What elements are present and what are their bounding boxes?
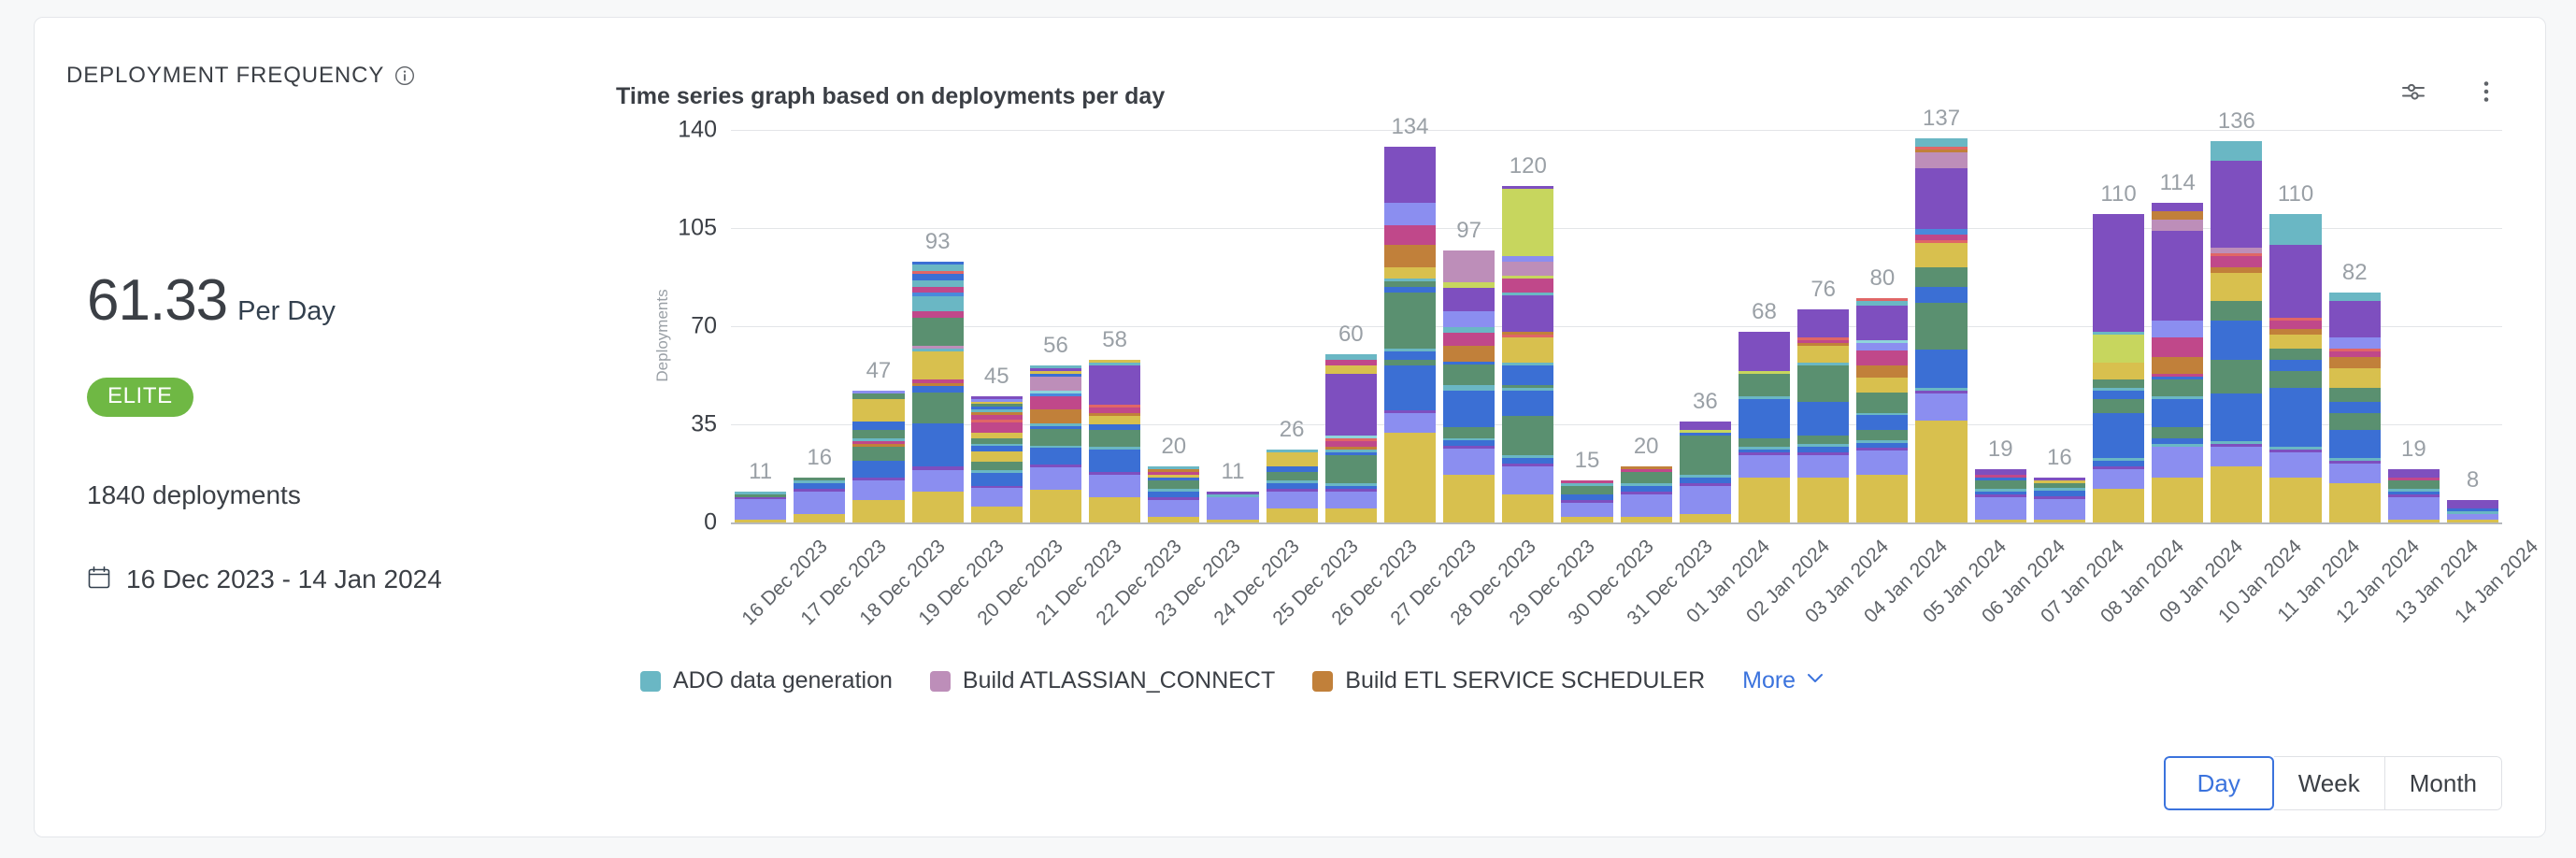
bar-value-label: 56 <box>1026 333 1085 359</box>
bar-segment[interactable] <box>1443 365 1495 386</box>
bar-segment[interactable] <box>971 488 1023 507</box>
bar-column[interactable]: 20 <box>1144 130 1203 522</box>
bar-segment[interactable] <box>1030 490 1081 522</box>
bar-segment[interactable] <box>1915 350 1967 388</box>
bar-segment[interactable] <box>2034 520 2085 522</box>
bar-segment[interactable] <box>1443 475 1495 522</box>
bar-segment[interactable] <box>912 274 964 280</box>
bar-segment[interactable] <box>1089 497 1140 522</box>
bar-value-label: 80 <box>1853 265 1911 292</box>
bar-segment[interactable] <box>1384 245 1436 267</box>
bar-segment[interactable] <box>2211 447 2262 466</box>
bar-segment[interactable] <box>1975 520 2026 522</box>
bar-column[interactable]: 47 <box>849 130 908 522</box>
date-range-row[interactable]: 16 Dec 2023 - 14 Jan 2024 <box>87 565 442 594</box>
bar-segment[interactable] <box>1915 138 1967 147</box>
bar-segment[interactable] <box>2152 211 2203 220</box>
bar-segment[interactable] <box>2152 203 2203 211</box>
bar-column[interactable]: 76 <box>1794 130 1853 522</box>
bar-segment[interactable] <box>2211 301 2262 321</box>
bar-segment[interactable] <box>971 473 1023 486</box>
bar-segment[interactable] <box>2211 321 2262 360</box>
bar-segment[interactable] <box>1502 262 1553 276</box>
bar-segment[interactable] <box>1267 472 1318 480</box>
bar-segment[interactable] <box>1502 189 1553 256</box>
x-axis-label-slot: 03 Jan 2024 <box>1794 530 1853 670</box>
deployment-frequency-card: DEPLOYMENT FREQUENCY 61.33 Per Day ELITE… <box>34 17 2546 837</box>
y-axis-tick: 35 <box>633 411 717 438</box>
x-axis-label-slot: 12 Jan 2024 <box>2326 530 2384 670</box>
bar-segment[interactable] <box>1030 396 1081 410</box>
bar-segment[interactable] <box>912 318 964 346</box>
bar-segment[interactable] <box>1325 492 1377 508</box>
bar-stack <box>1325 354 1377 522</box>
bar-segment[interactable] <box>2329 464 2381 483</box>
bar-segment[interactable] <box>912 265 964 271</box>
x-axis-label-slot: 04 Jan 2024 <box>1853 530 1911 670</box>
x-axis-label-slot: 06 Jan 2024 <box>1971 530 2030 670</box>
bar-segment[interactable] <box>1384 225 1436 245</box>
bar-segment[interactable] <box>2211 161 2262 248</box>
bar-segment[interactable] <box>1443 333 1495 346</box>
bar-segment[interactable] <box>2329 402 2381 413</box>
bar-segment[interactable] <box>2269 371 2321 388</box>
bar-value-label: 97 <box>1439 218 1498 244</box>
bar-segment[interactable] <box>2152 321 2203 337</box>
bar-stack <box>1739 332 1790 522</box>
x-axis-baseline <box>731 522 2502 524</box>
bar-segment[interactable] <box>1502 494 1553 522</box>
bar-segment[interactable] <box>1561 486 1612 494</box>
bar-segment[interactable] <box>2388 520 2440 522</box>
bar-segment[interactable] <box>912 470 964 492</box>
bar-segment[interactable] <box>1856 365 1908 378</box>
bar-stack <box>2093 214 2144 522</box>
bar-segment[interactable] <box>2034 499 2085 521</box>
bar-segment[interactable] <box>1148 480 1199 489</box>
plot-area: Deployments 03570105140 1116479345565820… <box>577 18 2545 837</box>
bar-segment[interactable] <box>1915 152 1967 169</box>
bar-value-label: 11 <box>731 459 790 485</box>
x-axis-label-slot: 26 Dec 2023 <box>1322 530 1381 670</box>
bar-segment[interactable] <box>1856 306 1908 340</box>
bar-segment[interactable] <box>852 480 904 500</box>
x-axis-label-slot: 18 Dec 2023 <box>849 530 908 670</box>
bar-column[interactable]: 134 <box>1381 130 1439 522</box>
bar-segment[interactable] <box>1856 430 1908 440</box>
bar-segment[interactable] <box>1325 365 1377 374</box>
bar-segment[interactable] <box>2152 337 2203 357</box>
bar-value-label: 134 <box>1381 114 1439 140</box>
bar-stack <box>1561 480 1612 522</box>
bar-stack <box>1621 466 1672 522</box>
bar-segment[interactable] <box>1030 409 1081 423</box>
bar-column[interactable]: 137 <box>1911 130 1970 522</box>
legend-label: Build ETL SERVICE SCHEDULER <box>1345 667 1705 694</box>
bar-segment[interactable] <box>971 451 1023 462</box>
bar-column[interactable]: 16 <box>790 130 849 522</box>
bar-column[interactable]: 136 <box>2207 130 2266 522</box>
x-axis-label-slot: 13 Jan 2024 <box>2384 530 2443 670</box>
bar-segment[interactable] <box>2329 388 2381 402</box>
bar-segment[interactable] <box>1915 267 1967 287</box>
bar-column[interactable]: 82 <box>2326 130 2384 522</box>
bar-segment[interactable] <box>1325 374 1377 436</box>
bar-segment[interactable] <box>2269 452 2321 478</box>
bar-segment[interactable] <box>1443 288 1495 311</box>
bar-segment[interactable] <box>2329 413 2381 430</box>
bar-segment[interactable] <box>912 296 964 312</box>
bar-segment[interactable] <box>2093 214 2144 329</box>
bar-segment[interactable] <box>1797 365 1849 402</box>
bar-segment[interactable] <box>2093 399 2144 413</box>
bar-segment[interactable] <box>2269 321 2321 329</box>
bar-segment[interactable] <box>1856 393 1908 412</box>
bar-segment[interactable] <box>1267 492 1318 508</box>
bar-segment[interactable] <box>1739 478 1790 522</box>
bar-value-label: 68 <box>1735 299 1794 325</box>
bar-segment[interactable] <box>1207 520 1258 522</box>
bar-segment[interactable] <box>1384 433 1436 522</box>
bar-segment[interactable] <box>1502 416 1553 455</box>
x-axis-label-slot: 25 Dec 2023 <box>1263 530 1322 670</box>
bar-segment[interactable] <box>1739 374 1790 396</box>
bar-segment[interactable] <box>2093 413 2144 458</box>
x-axis-label-slot: 17 Dec 2023 <box>790 530 849 670</box>
bar-segment[interactable] <box>1443 391 1495 428</box>
bar-segment[interactable] <box>1384 293 1436 349</box>
bar-segment[interactable] <box>1561 503 1612 517</box>
bar-stack <box>2269 214 2321 522</box>
bar-segment[interactable] <box>1089 430 1140 447</box>
bar-column[interactable]: 19 <box>2384 130 2443 522</box>
bar-segment[interactable] <box>912 386 964 393</box>
bar-column[interactable]: 56 <box>1026 130 1085 522</box>
bar-segment[interactable] <box>1739 455 1790 478</box>
legend-swatch <box>930 671 951 692</box>
bar-segment[interactable] <box>1089 475 1140 497</box>
y-axis-tick: 70 <box>633 313 717 340</box>
bar-column[interactable]: 110 <box>2266 130 2325 522</box>
bar-segment[interactable] <box>912 351 964 379</box>
bar-segment[interactable] <box>2152 478 2203 522</box>
bar-segment[interactable] <box>1502 365 1553 385</box>
bar-stack <box>1443 250 1495 522</box>
bar-segment[interactable] <box>1797 478 1849 522</box>
bar-segment[interactable] <box>2329 357 2381 368</box>
bar-segment[interactable] <box>1680 486 1731 514</box>
bar-segment[interactable] <box>1267 452 1318 466</box>
legend-item[interactable]: ADO data generation <box>640 667 893 694</box>
bar-column[interactable]: 45 <box>967 130 1026 522</box>
bar-column[interactable]: 26 <box>1263 130 1322 522</box>
bar-segment[interactable] <box>2211 141 2262 161</box>
bar-stack <box>1207 492 1258 522</box>
bar-segment[interactable] <box>2447 500 2498 508</box>
bar-segment[interactable] <box>1856 450 1908 476</box>
bar-segment[interactable] <box>1797 455 1849 478</box>
bar-segment[interactable] <box>1797 436 1849 444</box>
bar-column[interactable]: 16 <box>2030 130 2089 522</box>
bar-segment[interactable] <box>2329 430 2381 458</box>
bar-segment[interactable] <box>2211 360 2262 393</box>
bar-stack <box>1267 450 1318 522</box>
bar-segment[interactable] <box>1443 250 1495 282</box>
bar-segment[interactable] <box>912 280 964 287</box>
bar-stack <box>2211 141 2262 522</box>
bar-segment[interactable] <box>1975 480 2026 489</box>
bar-segment[interactable] <box>2152 357 2203 374</box>
bar-segment[interactable] <box>2093 363 2144 379</box>
bar-segment[interactable] <box>794 492 845 514</box>
bar-segment[interactable] <box>2329 301 2381 337</box>
bar-segment[interactable] <box>1975 497 2026 520</box>
bar-segment[interactable] <box>1384 413 1436 433</box>
bar-segment[interactable] <box>2269 360 2321 371</box>
bar-segment[interactable] <box>1148 517 1199 522</box>
bar-value-label: 36 <box>1676 389 1735 415</box>
info-icon[interactable] <box>394 65 415 86</box>
bar-segment[interactable] <box>1915 421 1967 522</box>
bar-segment[interactable] <box>1443 427 1495 437</box>
bar-value-label: 120 <box>1498 153 1557 179</box>
legend-swatch <box>640 671 661 692</box>
bar-segment[interactable] <box>852 422 904 430</box>
range-toggle-day[interactable]: Day <box>2164 756 2274 810</box>
bar-column[interactable]: 93 <box>909 130 967 522</box>
bars-layer: 1116479345565820112660134971201520366876… <box>731 130 2502 522</box>
range-toggle-week[interactable]: Week <box>2274 756 2385 810</box>
legend-more-label: More <box>1742 667 1796 694</box>
bar-segment[interactable] <box>2269 214 2321 245</box>
bar-segment[interactable] <box>2329 337 2381 349</box>
bar-segment[interactable] <box>1089 365 1140 405</box>
bar-segment[interactable] <box>2093 391 2144 399</box>
bar-segment[interactable] <box>1443 311 1495 327</box>
bar-column[interactable]: 11 <box>1203 130 1262 522</box>
bar-segment[interactable] <box>2093 379 2144 388</box>
x-axis-label-slot: 07 Jan 2024 <box>2030 530 2089 670</box>
bar-value-label: 93 <box>909 229 967 255</box>
bar-segment[interactable] <box>1561 517 1612 522</box>
legend-more-button[interactable]: More <box>1742 666 1826 695</box>
bar-segment[interactable] <box>1325 508 1377 522</box>
bar-segment[interactable] <box>2152 447 2203 478</box>
bar-segment[interactable] <box>912 423 964 467</box>
x-axis-label-slot: 02 Jan 2024 <box>1735 530 1794 670</box>
bar-value-label: 20 <box>1617 434 1676 460</box>
bar-segment[interactable] <box>1030 377 1081 391</box>
bar-segment[interactable] <box>1267 508 1318 522</box>
bar-column[interactable]: 36 <box>1676 130 1735 522</box>
bar-segment[interactable] <box>1089 416 1140 424</box>
bar-segment[interactable] <box>1797 346 1849 363</box>
bar-segment[interactable] <box>852 461 904 478</box>
y-axis-tick: 0 <box>633 509 717 536</box>
bar-segment[interactable] <box>912 311 964 318</box>
bar-segment[interactable] <box>1384 267 1436 279</box>
bar-value-label: 16 <box>790 445 849 471</box>
legend-label: ADO data generation <box>673 667 893 694</box>
bar-segment[interactable] <box>1502 337 1553 363</box>
x-axis-label-slot: 19 Dec 2023 <box>909 530 967 670</box>
bar-column[interactable]: 11 <box>731 130 790 522</box>
legend-item[interactable]: Build ATLASSIAN_CONNECT <box>930 667 1275 694</box>
bar-segment[interactable] <box>912 492 964 522</box>
bar-segment[interactable] <box>1502 295 1553 332</box>
bar-segment[interactable] <box>2329 293 2381 301</box>
bar-value-label: 47 <box>849 358 908 384</box>
bar-segment[interactable] <box>2152 379 2203 396</box>
x-axis-label-slot: 11 Jan 2024 <box>2266 530 2325 670</box>
bar-segment[interactable] <box>1502 391 1553 416</box>
bar-segment[interactable] <box>1030 429 1081 446</box>
bar-column[interactable]: 114 <box>2148 130 2207 522</box>
bar-segment[interactable] <box>852 430 904 438</box>
bar-column[interactable]: 20 <box>1617 130 1676 522</box>
range-toggle-month[interactable]: Month <box>2385 756 2502 810</box>
bar-value-label: 110 <box>2266 181 2325 207</box>
bar-segment[interactable] <box>2093 489 2144 522</box>
metric-value: 61.33 <box>87 272 227 330</box>
bar-segment[interactable] <box>1856 350 1908 365</box>
bar-segment[interactable] <box>2388 480 2440 489</box>
bar-segment[interactable] <box>2093 469 2144 489</box>
bar-segment[interactable] <box>1915 243 1967 267</box>
bar-segment[interactable] <box>2447 520 2498 522</box>
bar-column[interactable]: 80 <box>1853 130 1911 522</box>
bar-segment[interactable] <box>2211 466 2262 522</box>
bar-segment[interactable] <box>1856 343 1908 350</box>
bar-segment[interactable] <box>1915 287 1967 304</box>
bar-stack <box>1975 469 2026 522</box>
bar-stack <box>1089 360 1140 522</box>
bar-segment[interactable] <box>2152 399 2203 427</box>
bar-segment[interactable] <box>1680 436 1731 475</box>
bar-segment[interactable] <box>1680 422 1731 430</box>
bar-segment[interactable] <box>1030 448 1081 465</box>
bar-column[interactable]: 120 <box>1498 130 1557 522</box>
bar-segment[interactable] <box>852 447 904 461</box>
bar-column[interactable]: 60 <box>1322 130 1381 522</box>
bar-segment[interactable] <box>1325 455 1377 483</box>
bar-segment[interactable] <box>2329 483 2381 522</box>
bar-stack <box>1680 422 1731 522</box>
bar-segment[interactable] <box>1739 438 1790 447</box>
bar-segment[interactable] <box>1621 517 1672 522</box>
bar-segment[interactable] <box>1384 351 1436 360</box>
bar-segment[interactable] <box>1856 415 1908 430</box>
bar-segment[interactable] <box>1443 449 1495 475</box>
bar-segment[interactable] <box>1621 494 1672 517</box>
bar-segment[interactable] <box>912 287 964 293</box>
bar-segment[interactable] <box>735 520 786 522</box>
bar-segment[interactable] <box>1502 279 1553 293</box>
bar-segment[interactable] <box>1915 168 1967 229</box>
bar-segment[interactable] <box>2269 245 2321 318</box>
bar-segment[interactable] <box>1621 472 1672 483</box>
bar-value-label: 26 <box>1263 417 1322 443</box>
bar-segment[interactable] <box>2211 256 2262 267</box>
deployments-count: 1840 deployments <box>87 480 301 510</box>
bar-column[interactable]: 58 <box>1085 130 1144 522</box>
bar-segment[interactable] <box>2269 349 2321 360</box>
bar-column[interactable]: 8 <box>2443 130 2502 522</box>
bar-segment[interactable] <box>1502 466 1553 494</box>
bar-segment[interactable] <box>1915 303 1967 350</box>
bar-value-label: 137 <box>1911 106 1970 132</box>
bar-value-label: 58 <box>1085 327 1144 353</box>
bar-value-label: 60 <box>1322 322 1381 348</box>
y-axis-tick: 105 <box>633 215 717 242</box>
bar-segment[interactable] <box>852 500 904 522</box>
bar-column[interactable]: 110 <box>2089 130 2148 522</box>
bar-segment[interactable] <box>1680 514 1731 522</box>
x-axis-label-slot: 30 Dec 2023 <box>1557 530 1616 670</box>
x-axis-labels: 16 Dec 202317 Dec 202318 Dec 202319 Dec … <box>731 530 2502 670</box>
bar-segment[interactable] <box>1915 393 1967 421</box>
bar-segment[interactable] <box>2211 273 2262 301</box>
page-title: DEPLOYMENT FREQUENCY <box>66 63 384 89</box>
bar-segment[interactable] <box>971 422 1023 433</box>
bar-segment[interactable] <box>2152 220 2203 231</box>
bar-segment[interactable] <box>2269 335 2321 349</box>
bar-value-label: 45 <box>967 364 1026 390</box>
bar-segment[interactable] <box>1443 346 1495 362</box>
legend-item[interactable]: Build ETL SERVICE SCHEDULER <box>1312 667 1705 694</box>
bar-segment[interactable] <box>2269 478 2321 522</box>
bar-segment[interactable] <box>1856 475 1908 522</box>
bar-segment[interactable] <box>2329 368 2381 388</box>
bar-segment[interactable] <box>1384 147 1436 203</box>
bar-segment[interactable] <box>912 393 964 423</box>
bar-segment[interactable] <box>1207 497 1258 520</box>
bar-segment[interactable] <box>1797 402 1849 436</box>
bar-column[interactable]: 97 <box>1439 130 1498 522</box>
status-badge: ELITE <box>87 378 193 417</box>
bar-segment[interactable] <box>1030 467 1081 490</box>
bar-segment[interactable] <box>1089 450 1140 472</box>
bar-column[interactable]: 15 <box>1557 130 1616 522</box>
bar-segment[interactable] <box>735 499 786 520</box>
bar-segment[interactable] <box>1797 309 1849 337</box>
bar-segment[interactable] <box>971 507 1023 522</box>
bar-segment[interactable] <box>2152 231 2203 321</box>
bar-segment[interactable] <box>852 399 904 422</box>
x-axis-label-slot: 27 Dec 2023 <box>1381 530 1439 670</box>
chart-panel: Time series graph based on deployments p… <box>577 18 2545 837</box>
bar-segment[interactable] <box>1148 500 1199 517</box>
bar-segment[interactable] <box>2388 497 2440 520</box>
bar-segment[interactable] <box>1384 365 1436 410</box>
bar-column[interactable]: 68 <box>1735 130 1794 522</box>
bar-segment[interactable] <box>1739 332 1790 371</box>
bar-segment[interactable] <box>794 514 845 522</box>
bar-segment[interactable] <box>1856 378 1908 393</box>
bar-column[interactable]: 19 <box>1971 130 2030 522</box>
bar-segment[interactable] <box>2093 335 2144 363</box>
bar-segment[interactable] <box>1739 399 1790 438</box>
bar-stack <box>912 262 964 522</box>
bar-value-label: 20 <box>1144 434 1203 460</box>
bar-segment[interactable] <box>2269 388 2321 447</box>
bar-segment[interactable] <box>2388 469 2440 478</box>
bar-stack <box>1148 466 1199 522</box>
bar-segment[interactable] <box>2211 393 2262 441</box>
bar-segment[interactable] <box>2152 427 2203 438</box>
bar-segment[interactable] <box>1384 203 1436 225</box>
bar-segment[interactable] <box>971 462 1023 469</box>
